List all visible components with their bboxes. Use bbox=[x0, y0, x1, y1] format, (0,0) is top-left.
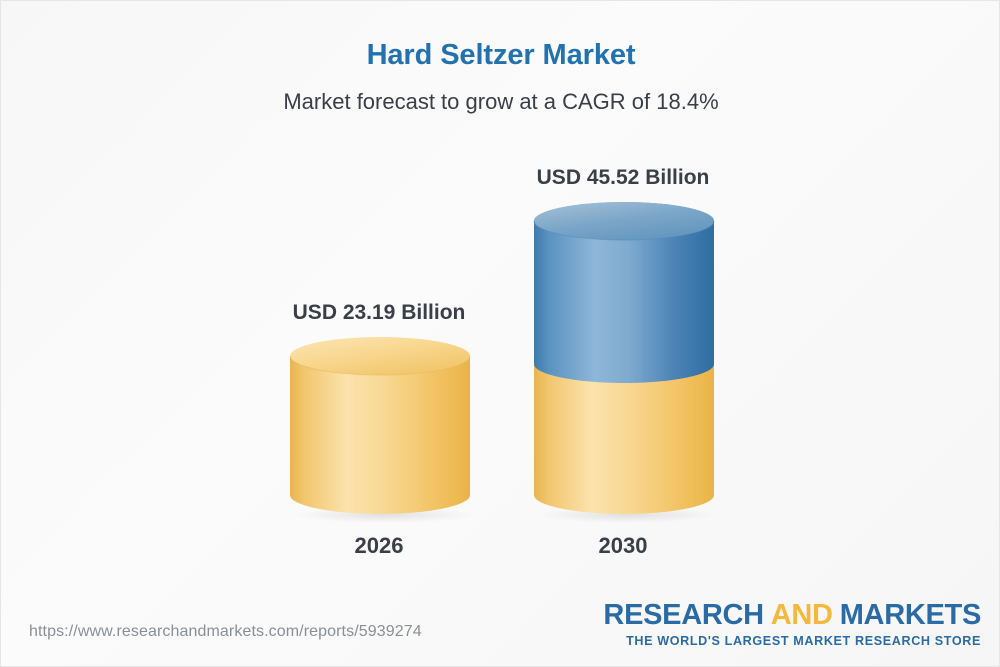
brand-wordmark: RESEARCHANDMARKETS bbox=[603, 601, 981, 630]
cylinder-bar-2026 bbox=[289, 337, 471, 523]
source-url[interactable]: https://www.researchandmarkets.com/repor… bbox=[29, 623, 422, 641]
category-label-2030: 2030 bbox=[463, 533, 783, 559]
brand-logo: RESEARCHANDMARKETS THE WORLD'S LARGEST M… bbox=[603, 601, 981, 648]
infographic-canvas: Hard Seltzer Market Market forecast to g… bbox=[0, 0, 1000, 667]
bar-group-2030: USD 45.52 Billion bbox=[463, 1, 783, 601]
brand-research-text: RESEARCH bbox=[603, 599, 763, 631]
brand-tagline: THE WORLD'S LARGEST MARKET RESEARCH STOR… bbox=[603, 635, 981, 648]
brand-and-text: AND bbox=[771, 599, 833, 631]
chart-plot-area: USD 23.19 Billion bbox=[1, 1, 1000, 601]
cylinder-bar-2030 bbox=[533, 202, 715, 523]
data-label-2030: USD 45.52 Billion bbox=[463, 166, 783, 190]
brand-markets-text: MARKETS bbox=[840, 599, 981, 631]
